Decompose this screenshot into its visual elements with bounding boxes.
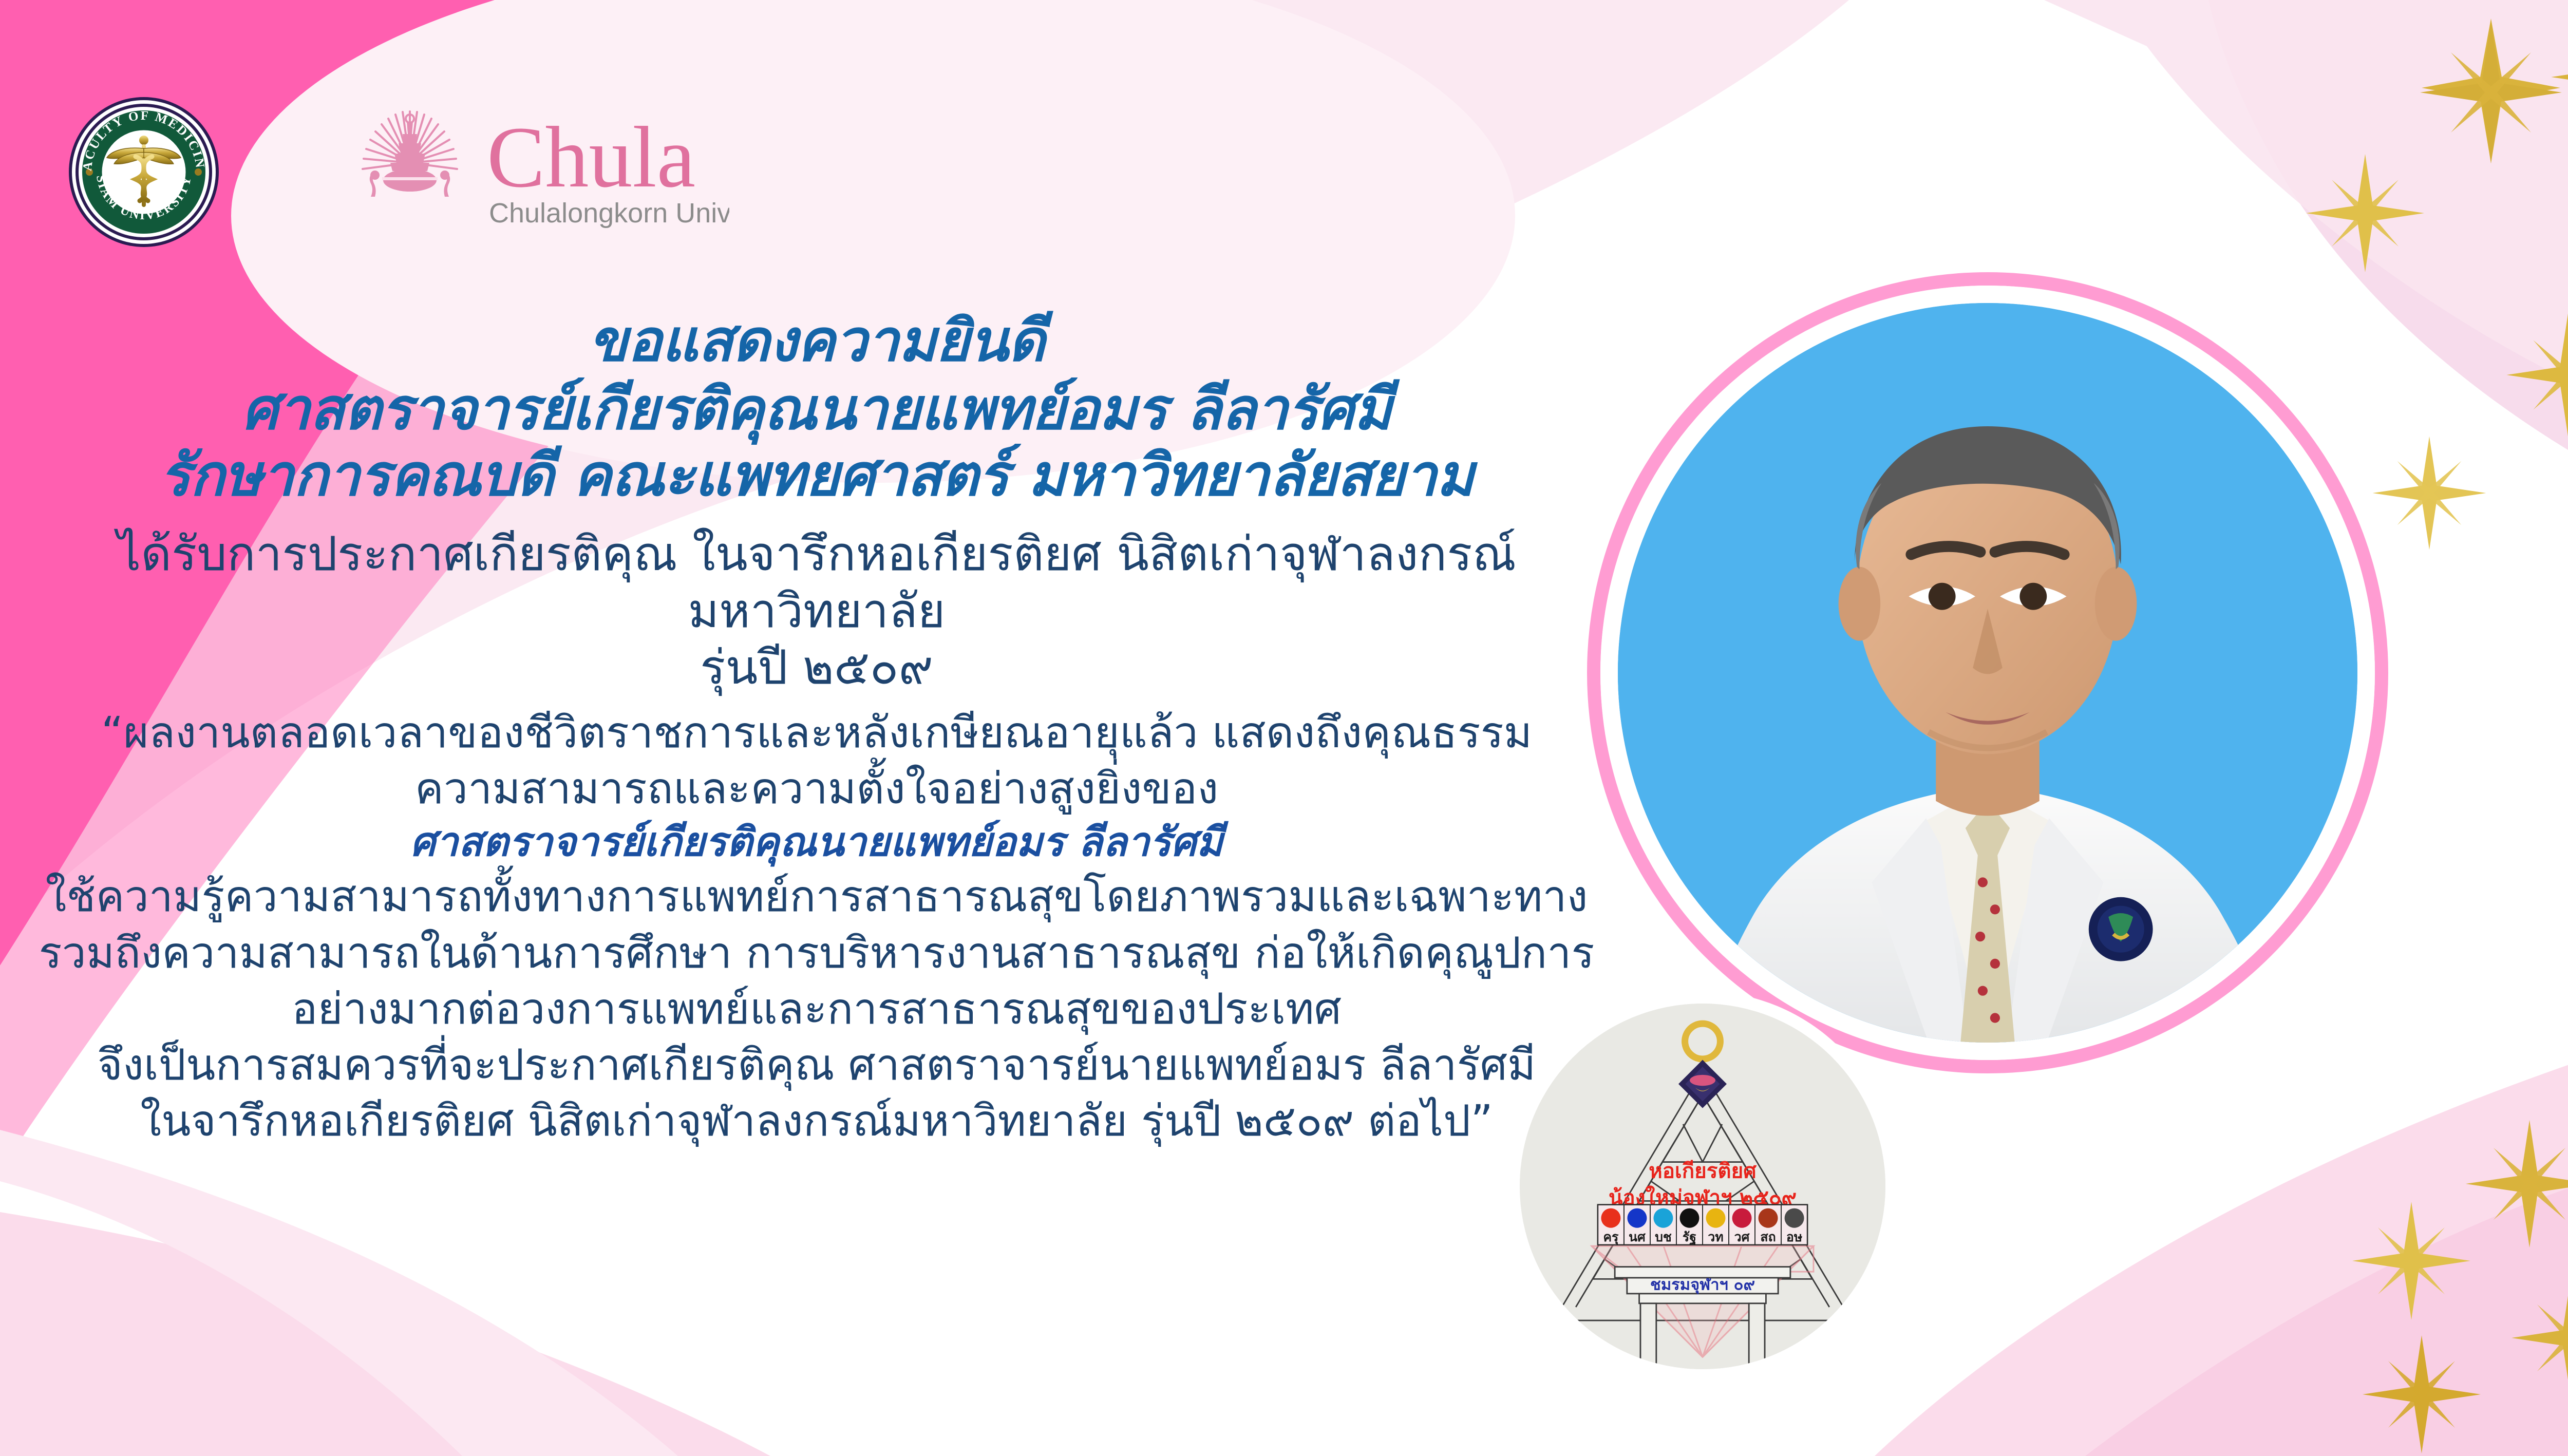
gold-sparkle-star-icon — [2414, 15, 2568, 169]
citation-line-3: ใช้ความรู้ความสามารถทั้งทางการแพทย์การสา… — [31, 868, 1602, 924]
hall-of-fame-inset-frame: หอเกียรติยศ น้องใหม่จุฬาฯ ๒๕๐๙ ครุนศบชรั… — [1507, 991, 1898, 1382]
faculty-disc-label: สถ — [1760, 1230, 1776, 1244]
faculty-disc-นศ — [1627, 1208, 1647, 1228]
gold-sparkle-star-icon — [2357, 1330, 2486, 1456]
faculty-disc-อษ — [1785, 1208, 1804, 1228]
faculty-disc-สถ — [1759, 1208, 1778, 1228]
faculty-disc-รัฐ — [1680, 1208, 1700, 1228]
gold-sparkle-star-icon — [2347, 1197, 2476, 1325]
faculty-disc-label: วท — [1708, 1230, 1723, 1244]
citation-line-1: “ผลงานตลอดเวลาของชีวิตราชการและหลังเกษีย… — [31, 705, 1602, 761]
chulalongkorn-university-logo: Chula Chulalongkorn University — [349, 100, 729, 239]
headline-line-1: ขอแสดงความยินดี — [31, 308, 1602, 374]
chula-subtitle: Chulalongkorn University — [489, 198, 729, 229]
faculty-disc-label: รัฐ — [1683, 1230, 1696, 1245]
faculty-disc-บช — [1653, 1208, 1673, 1228]
gold-sparkle-star-icon — [2460, 1114, 2568, 1253]
gold-sparkle-star-icon — [2501, 308, 2568, 442]
headline-line-3: รักษาการคณบดี คณะแพทยศาสตร์ มหาวิทยาลัยส… — [31, 443, 1602, 509]
faculty-disc-label: ครุ — [1603, 1230, 1619, 1245]
faculty-disc-วท — [1706, 1208, 1726, 1228]
siam-university-faculty-of-medicine-logo: FACULTY OF MEDICINE SIAM UNIVERSITY — [67, 95, 221, 249]
congratulations-poster: FACULTY OF MEDICINE SIAM UNIVERSITY — [0, 0, 2568, 1456]
citation-line-4: รวมถึงความสามารถในด้านการศึกษา การบริหาร… — [31, 925, 1602, 981]
portrait-frame — [1587, 272, 2388, 1073]
inset-title-line-1: หอเกียรติยศ — [1649, 1159, 1757, 1183]
faculty-disc-ครุ — [1601, 1208, 1620, 1228]
citation-line-7: ในจารึกหอเกียรติยศ นิสิตเก่าจุฬาลงกรณ์มห… — [31, 1093, 1602, 1149]
faculty-disc-label: บช — [1655, 1230, 1672, 1244]
announcement-text-block: ขอแสดงความยินดี ศาสตราจารย์เกียรติคุณนาย… — [31, 308, 1602, 1149]
citation-honoree-name: ศาสตราจารย์เกียรติคุณนายแพทย์อมร ลีลารัศ… — [31, 817, 1602, 868]
professor-portrait-photo — [1618, 303, 2357, 1043]
inset-footer: ชมรมจุฬาฯ ๐๙ — [1650, 1276, 1755, 1295]
citation-line-5: อย่างมากต่อวงการแพทย์และการสาธารณสุขของป… — [31, 981, 1602, 1037]
gold-sparkle-star-icon — [2547, 31, 2568, 123]
citation-line-2: ความสามารถและความตั้งใจอย่างสูงยิ่งของ — [31, 761, 1602, 817]
phra-kiao-crown-icon — [363, 111, 457, 197]
subhead-line-1: ได้รับการประกาศเกียรติคุณ ในจารึกหอเกียร… — [31, 526, 1602, 639]
faculty-disc-label: นศ — [1629, 1230, 1646, 1244]
headline-line-2: ศาสตราจารย์เกียรติคุณนายแพทย์อมร ลีลารัศ… — [31, 376, 1602, 443]
faculty-disc-label: วศ — [1734, 1230, 1750, 1244]
subhead-line-2: รุ่นปี ๒๕๐๙ — [31, 639, 1602, 696]
citation-line-6: จึงเป็นการสมควรที่จะประกาศเกียรติคุณ ศาส… — [31, 1037, 1602, 1093]
gold-sparkle-star-icon — [2301, 149, 2429, 277]
gold-sparkle-star-icon — [2506, 1274, 2568, 1402]
faculty-disc-label: อษ — [1786, 1230, 1802, 1244]
faculty-disc-strip: ครุนศบชรัฐวทวศสถอษ — [1598, 1205, 1807, 1245]
hall-of-fame-monument-sketch: หอเกียรติยศ น้องใหม่จุฬาฯ ๒๕๐๙ ครุนศบชรั… — [1520, 1004, 1885, 1369]
faculty-disc-วศ — [1732, 1208, 1752, 1228]
chula-wordmark: Chula — [487, 109, 695, 205]
